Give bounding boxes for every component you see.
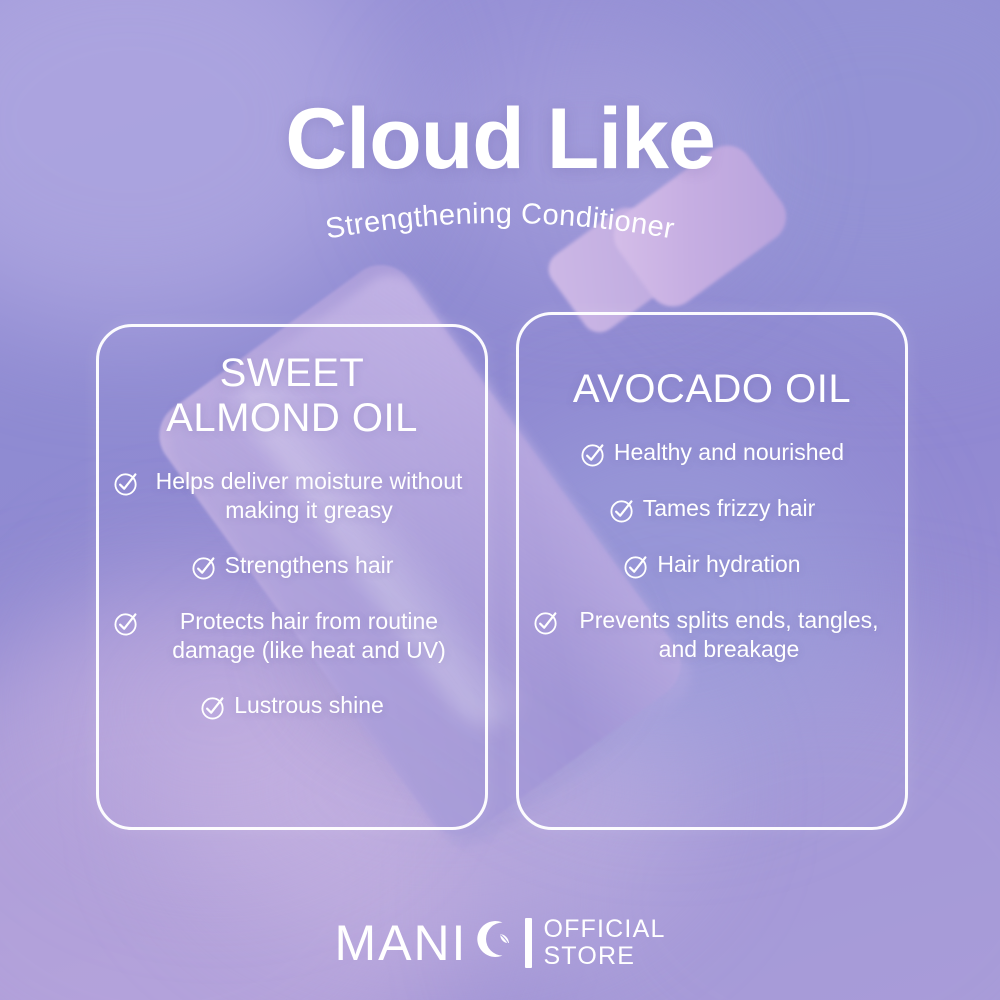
list-item-label: Helps deliver moisture without making it… [147,467,471,525]
check-circle-icon [191,554,218,581]
panel-title-line-2: ALMOND OIL [166,396,418,440]
list-item-label: Healthy and nourished [614,438,844,467]
subtitle-arc: Strengthening Conditioner [220,188,780,268]
list-item-label: Protects hair from routine damage (like … [147,607,471,665]
list-item-label: Hair hydration [657,550,800,579]
list-item-label: Prevents splits ends, tangles, and break… [567,606,891,664]
store-label: STORE [543,943,665,970]
brand-name: MANI [334,914,515,972]
check-circle-icon [113,470,140,497]
check-circle-icon [113,610,140,637]
panel-title-line-1: AVOCADO OIL [573,367,851,411]
check-circle-icon [580,441,607,468]
page-title: Cloud Like [0,96,1000,182]
list-item: Strengthens hair [99,551,485,581]
header: Cloud Like Strengthening Conditioner [0,96,1000,268]
list-item-label: Strengthens hair [225,551,394,580]
brand-subtitle: OFFICIAL STORE [543,916,665,970]
product-infographic: Cloud Like Strengthening Conditioner SWE… [0,0,1000,1000]
check-circle-icon [200,694,227,721]
list-item: Helps deliver moisture without making it… [99,467,485,525]
panel-sweet-almond-oil: SWEET ALMOND OIL Helps deliver moisture … [96,324,488,830]
list-item: Tames frizzy hair [519,494,905,524]
list-item: Lustrous shine [99,691,485,721]
panel-title-avocado-oil: AVOCADO OIL [519,367,905,412]
check-circle-icon [533,609,560,636]
list-item-label: Lustrous shine [234,691,384,720]
official-label: OFFICIAL [543,916,665,943]
panel-avocado-oil: AVOCADO OIL Healthy and nourished [516,312,908,830]
benefit-list-sweet-almond-oil: Helps deliver moisture without making it… [99,467,485,721]
brand-divider [525,918,532,968]
list-item: Protects hair from routine damage (like … [99,607,485,665]
benefit-list-avocado-oil: Healthy and nourished Tames frizzy hair [519,438,905,664]
list-item: Healthy and nourished [519,438,905,468]
panel-title-line-1: SWEET [220,351,365,395]
check-circle-icon [609,497,636,524]
list-item: Prevents splits ends, tangles, and break… [519,606,905,664]
page-subtitle: Strengthening Conditioner [323,198,677,246]
list-item-label: Tames frizzy hair [643,494,816,523]
check-circle-icon [623,553,650,580]
brand-name-text: MANI [334,918,467,968]
panel-title-sweet-almond-oil: SWEET ALMOND OIL [99,351,485,441]
list-item: Hair hydration [519,550,905,580]
crescent-leaf-logo-icon [469,914,515,972]
brand-lockup: MANI OFFICIAL STORE [0,914,1000,972]
